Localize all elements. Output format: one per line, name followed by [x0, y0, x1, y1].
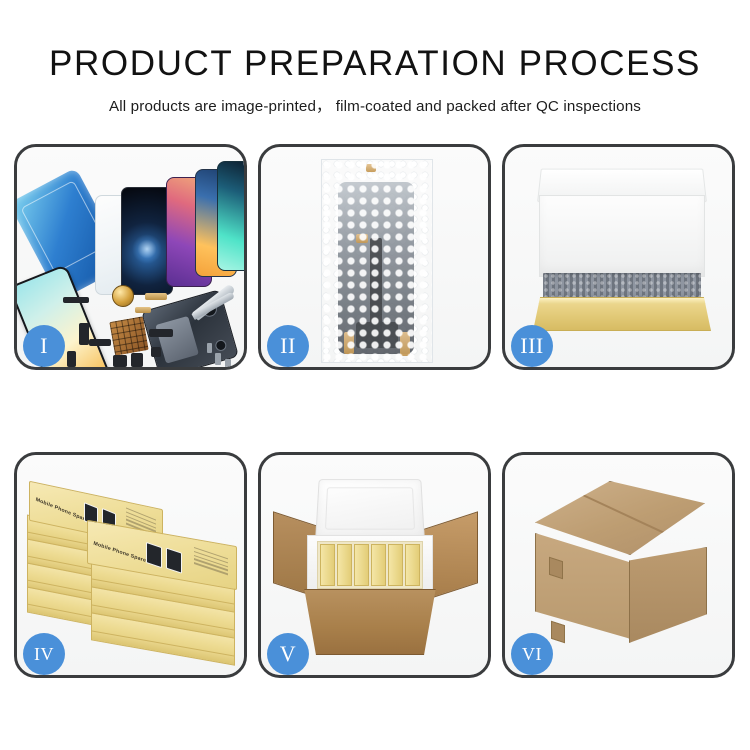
wrapped-phone-part: [338, 182, 414, 354]
packed-box-6: [405, 544, 420, 586]
sealed-carton-image: VI: [505, 455, 732, 675]
flex-cable-gold-1: [145, 293, 167, 300]
flex-cable-gold-2: [135, 307, 151, 313]
flex-cable-3: [89, 339, 111, 346]
process-step-grid: I II: [14, 144, 736, 678]
step-badge-3: III: [511, 325, 553, 367]
screw-1: [215, 353, 221, 365]
sim-tray-part: [151, 347, 161, 357]
tape-piece-bottom-left: [344, 332, 354, 354]
flex-cable-2: [79, 323, 89, 345]
phone-display-teal-gradient: [217, 161, 244, 271]
packed-box-1: [320, 544, 335, 586]
panel-bubble-wrap: II: [258, 144, 491, 370]
panel-inner-box: III: [502, 144, 735, 370]
bubble-foam-padding: [543, 273, 701, 299]
kraft-box-tray: [533, 297, 711, 331]
bubble-wrap-image: II: [261, 147, 488, 367]
battery-part: [155, 316, 199, 364]
inner-box-image: III: [505, 147, 732, 367]
step-badge-2: II: [267, 325, 309, 367]
page-title: PRODUCT PREPARATION PROCESS: [0, 44, 750, 84]
screw-2: [225, 359, 231, 367]
button-flex-part: [67, 351, 76, 367]
earpiece-module: [131, 353, 143, 367]
carton-tape-lower: [551, 621, 565, 644]
packed-yellow-boxes: [317, 541, 423, 589]
screw-3: [207, 343, 212, 353]
box-lid-white: [539, 195, 705, 277]
packed-box-2: [337, 544, 352, 586]
box-stack-image: Mobile Phone Spare Parts Mobile Phone Sp…: [17, 455, 244, 675]
box-label-lines-2: [194, 547, 228, 577]
step-badge-1: I: [23, 325, 65, 367]
speaker-module: [113, 355, 127, 367]
tape-piece-bottom-right: [400, 332, 410, 356]
vibration-motor-part: [112, 285, 134, 307]
carton-packing-image: V: [261, 455, 488, 675]
retail-box-stack: Mobile Phone Spare Parts Mobile Phone Sp…: [25, 469, 239, 665]
bubble-wrap-bag: [321, 159, 433, 363]
camera-lens-small: [214, 339, 228, 353]
packed-box-3: [354, 544, 369, 586]
header: PRODUCT PREPARATION PROCESS All products…: [0, 0, 750, 116]
parts-overview-image: I: [17, 147, 244, 367]
step-badge-5: V: [267, 633, 309, 675]
page-subtitle: All products are image-printed， film-coa…: [0, 94, 750, 116]
tape-piece-middle: [356, 234, 368, 243]
tape-piece-top: [366, 164, 376, 172]
panel-carton-packing: V: [258, 452, 491, 678]
box-label-screen-2b: [166, 547, 182, 573]
panel-sealed-carton: VI: [502, 452, 735, 678]
motherboard-chip: [109, 316, 148, 355]
panel-box-stack: Mobile Phone Spare Parts Mobile Phone Sp…: [14, 452, 247, 678]
packed-box-5: [388, 544, 403, 586]
packed-box-4: [371, 544, 386, 586]
flex-cable-4: [149, 329, 173, 337]
kraft-box-lip: [534, 298, 710, 304]
product-preparation-infographic: PRODUCT PREPARATION PROCESS All products…: [0, 0, 750, 750]
flex-cable-1: [63, 297, 89, 303]
carton-front-right-face: [629, 547, 707, 643]
step-badge-4: IV: [23, 633, 65, 675]
step-badge-6: VI: [511, 633, 553, 675]
panel-parts-overview: I: [14, 144, 247, 370]
foam-lid: [315, 479, 425, 539]
carton-body: [297, 589, 443, 655]
